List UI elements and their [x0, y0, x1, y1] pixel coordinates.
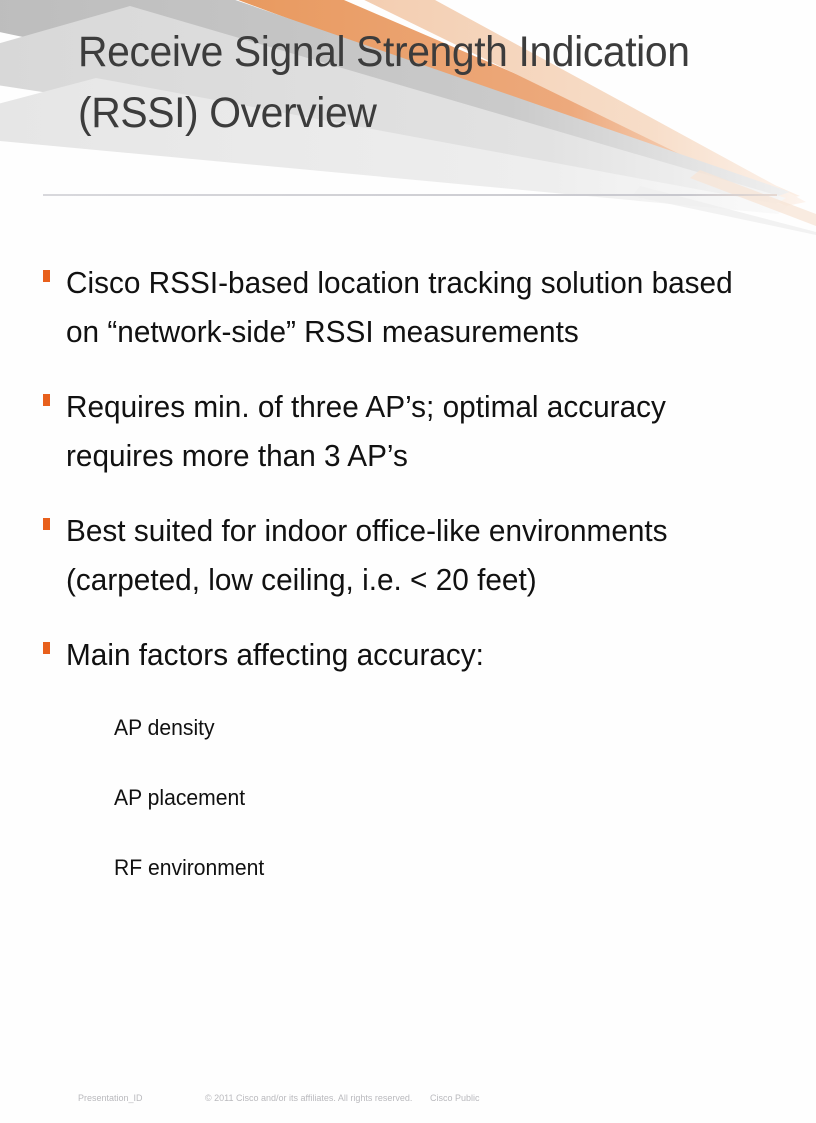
- bullet-text: Cisco RSSI-based location tracking solut…: [66, 258, 751, 356]
- square-bullet-icon: [43, 270, 50, 282]
- bullet-text: Main factors affecting accuracy:: [66, 630, 751, 679]
- bullet-text: Best suited for indoor office-like envir…: [66, 506, 751, 604]
- sub-bullet-list: AP density AP placement RF environment: [66, 693, 780, 903]
- footer-classification: Cisco Public: [430, 1093, 480, 1103]
- bullet-item: Main factors affecting accuracy: AP dens…: [40, 630, 780, 903]
- slide-footer: Presentation_ID © 2011 Cisco and/or its …: [0, 1093, 816, 1113]
- square-bullet-icon: [43, 642, 50, 654]
- footer-presentation-id: Presentation_ID: [78, 1093, 143, 1103]
- footer-copyright: © 2011 Cisco and/or its affiliates. All …: [205, 1093, 412, 1103]
- square-bullet-icon: [43, 394, 50, 406]
- sub-bullet-item: AP density: [114, 693, 753, 763]
- title-line-2: (RSSI) Overview: [78, 83, 743, 144]
- title-line-1: Receive Signal Strength Indication: [78, 22, 743, 83]
- slide-canvas: Receive Signal Strength Indication (RSSI…: [0, 0, 816, 1123]
- title-divider-rule: [43, 194, 777, 196]
- sub-bullet-item: AP placement: [114, 763, 753, 833]
- sub-bullet-item: RF environment: [114, 833, 753, 903]
- bullet-item: Best suited for indoor office-like envir…: [40, 506, 780, 604]
- bullet-text: Requires min. of three AP’s; optimal acc…: [66, 382, 751, 480]
- ribbon-tail-orange: [690, 170, 816, 226]
- slide-title: Receive Signal Strength Indication (RSSI…: [78, 22, 778, 144]
- square-bullet-icon: [43, 518, 50, 530]
- bullet-item: Cisco RSSI-based location tracking solut…: [40, 258, 780, 356]
- bullet-item: Requires min. of three AP’s; optimal acc…: [40, 382, 780, 480]
- slide-body: Cisco RSSI-based location tracking solut…: [40, 258, 780, 929]
